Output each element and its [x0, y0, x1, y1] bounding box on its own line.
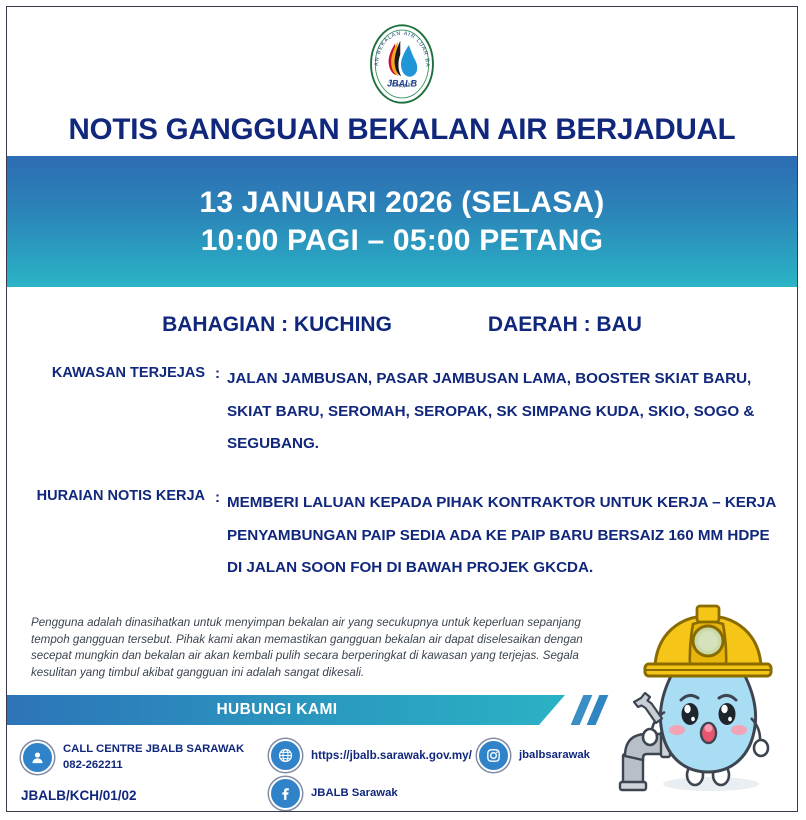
contact-facebook[interactable]: JBALB Sarawak: [269, 777, 398, 810]
website-url: https://jbalb.sarawak.gov.my/: [311, 748, 472, 764]
disclaimer-text: Pengguna adalah dinasihatkan untuk menyi…: [31, 615, 591, 682]
work-description-value: MEMBERI LALUAN KEPADA PIHAK KONTRAKTOR U…: [227, 487, 779, 585]
region-row: BAHAGIAN : KUCHING DAERAH : BAU: [25, 313, 779, 337]
affected-areas-label: KAWASAN TERJEJAS: [25, 363, 215, 461]
contacts-area: CALL CENTRE JBALB SARAWAK 082-262211 htt…: [7, 733, 627, 812]
contact-call-centre[interactable]: CALL CENTRE JBALB SARAWAK 082-262211: [21, 741, 244, 774]
contact-banner: HUBUNGI KAMI: [7, 695, 627, 725]
page-title: NOTIS GANGGUAN BEKALAN AIR BERJADUAL: [7, 113, 797, 147]
region-spacer: [392, 313, 488, 337]
call-centre-name: CALL CENTRE JBALB SARAWAK: [63, 743, 244, 755]
wrench-icon: [634, 693, 662, 723]
notice-time: 10:00 PAGI – 05:00 PETANG: [201, 224, 603, 258]
contact-banner-title: HUBUNGI KAMI: [7, 695, 547, 725]
affected-areas-value: JALAN JAMBUSAN, PASAR JAMBUSAN LAMA, BOO…: [227, 363, 779, 461]
contact-website[interactable]: https://jbalb.sarawak.gov.my/: [269, 739, 472, 772]
poster-header: JABATAN BEKALAN AIR LUAR BANDAR SARAWAK …: [7, 7, 797, 147]
call-centre-text: CALL CENTRE JBALB SARAWAK 082-262211: [63, 742, 244, 773]
poster-body: BAHAGIAN : KUCHING DAERAH : BAU KAWASAN …: [7, 313, 797, 585]
work-description-colon: :: [215, 487, 227, 585]
water-drop-mascot-icon: [615, 594, 791, 799]
affected-areas-colon: :: [215, 363, 227, 461]
district-label: DAERAH : BAU: [488, 313, 642, 337]
call-centre-phone: 082-262211: [63, 759, 123, 771]
hard-hat-icon: [645, 606, 771, 676]
instagram-handle: jbalbsarawak: [519, 748, 590, 763]
facebook-handle: JBALB Sarawak: [311, 786, 398, 801]
person-icon: [21, 741, 54, 774]
reference-number: JBALB/KCH/01/02: [21, 788, 137, 803]
work-description-block: HURAIAN NOTIS KERJA : MEMBERI LALUAN KEP…: [25, 487, 779, 585]
globe-icon: [269, 739, 302, 772]
notice-poster: JABATAN BEKALAN AIR LUAR BANDAR SARAWAK …: [6, 6, 798, 812]
date-time-banner: 13 JANUARI 2026 (SELASA) 10:00 PAGI – 05…: [7, 156, 797, 287]
work-description-label: HURAIAN NOTIS KERJA: [25, 487, 215, 585]
jbalb-logo-icon: JABATAN BEKALAN AIR LUAR BANDAR SARAWAK …: [359, 21, 445, 107]
affected-areas-block: KAWASAN TERJEJAS : JALAN JAMBUSAN, PASAR…: [25, 363, 779, 461]
facebook-icon: [269, 777, 302, 810]
division-label: BAHAGIAN : KUCHING: [162, 313, 392, 337]
svg-text:JBALB: JBALB: [387, 78, 418, 88]
notice-date: 13 JANUARI 2026 (SELASA): [200, 186, 605, 220]
instagram-icon: [477, 739, 510, 772]
contact-instagram[interactable]: jbalbsarawak: [477, 739, 590, 772]
